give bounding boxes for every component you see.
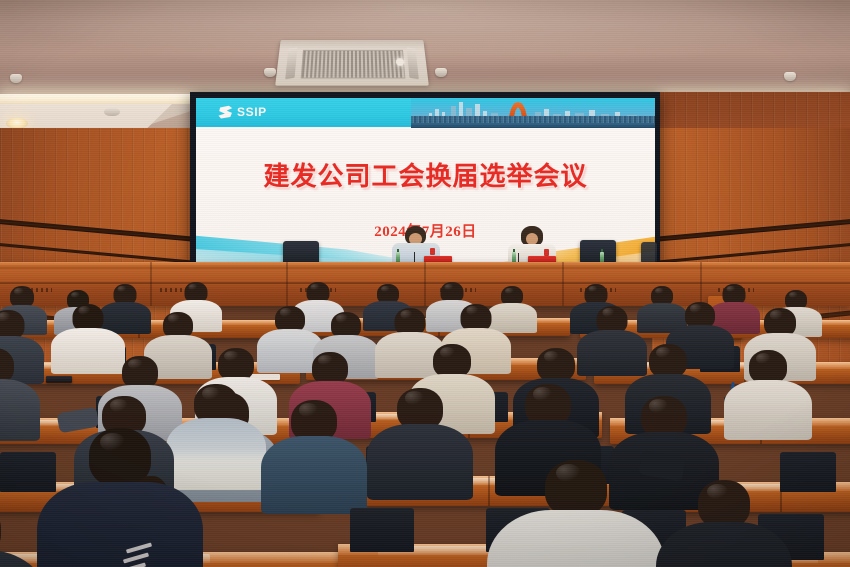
stage-chair [580, 240, 616, 264]
stage-chair [641, 242, 657, 264]
ceiling-spotlight-icon [784, 72, 796, 81]
ssip-s-mark-icon [218, 105, 233, 119]
seat-back [0, 452, 56, 492]
ac-vane-left [285, 47, 297, 79]
table-microphone-icon [414, 252, 415, 262]
notebook [46, 376, 72, 383]
audience-seating [0, 300, 850, 567]
table-microphone-icon [518, 253, 519, 262]
ceiling-spotlight-icon [435, 68, 447, 77]
ssip-logo: SSIP [218, 105, 267, 119]
waterfront [411, 123, 655, 128]
seat-back [780, 452, 836, 492]
ceiling [0, 0, 850, 96]
slide-title: 建发公司工会换届选举会议 [196, 156, 655, 193]
presenter-right-badge [544, 249, 549, 256]
desk-seam [488, 476, 490, 506]
conference-room-photo: SSIP 建发公司工会换届选举会议 2024年7月26日 [0, 0, 850, 567]
skyline-banner-image [411, 98, 655, 128]
ssip-logo-text: SSIP [237, 105, 267, 119]
ceiling-ac-unit-icon [275, 40, 429, 86]
ac-grille [301, 50, 406, 79]
ceiling-spotlight-icon [10, 74, 22, 83]
smoke-detector-icon [104, 108, 120, 116]
ac-vane-right [407, 47, 419, 79]
seat-back [350, 508, 414, 552]
ceiling-spotlight-icon [264, 68, 276, 77]
presenter-left-badge [430, 248, 435, 255]
ac-led-icon [396, 58, 405, 66]
